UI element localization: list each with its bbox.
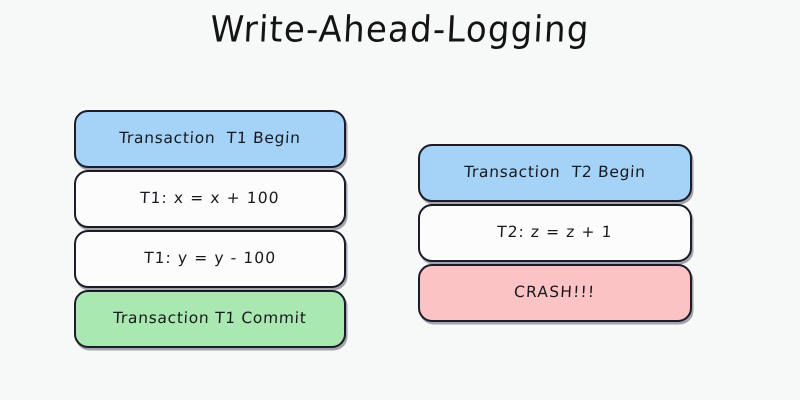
log-entry-label: T2: z = z + 1 (497, 225, 613, 241)
log-entry-label: Transaction T1 Begin (119, 131, 301, 147)
log-entry-t1-commit[interactable]: Transaction T1 Commit (74, 290, 346, 348)
log-entry-t1-begin[interactable]: Transaction T1 Begin (74, 110, 346, 168)
log-entry-t1-write-x[interactable]: T1: x = x + 100 (74, 170, 346, 228)
log-entry-label: Transaction T1 Commit (113, 311, 307, 327)
log-entry-t2-write-z[interactable]: T2: z = z + 1 (418, 204, 692, 262)
transaction-t2-log: Transaction T2 Begin T2: z = z + 1 CRASH… (418, 144, 692, 322)
log-entry-label: Transaction T2 Begin (464, 165, 646, 181)
log-entry-t2-crash[interactable]: CRASH!!! (418, 264, 692, 322)
page-title: Write-Ahead-Logging (0, 9, 800, 51)
log-entry-t1-write-y[interactable]: T1: y = y - 100 (74, 230, 346, 288)
log-entry-label: CRASH!!! (514, 285, 596, 301)
transaction-t1-log: Transaction T1 Begin T1: x = x + 100 T1:… (74, 110, 346, 348)
log-entry-t2-begin[interactable]: Transaction T2 Begin (418, 144, 692, 202)
log-entry-label: T1: x = x + 100 (140, 191, 280, 207)
log-entry-label: T1: y = y - 100 (143, 251, 276, 267)
diagram-canvas: Write-Ahead-Logging Transaction T1 Begin… (0, 0, 800, 400)
